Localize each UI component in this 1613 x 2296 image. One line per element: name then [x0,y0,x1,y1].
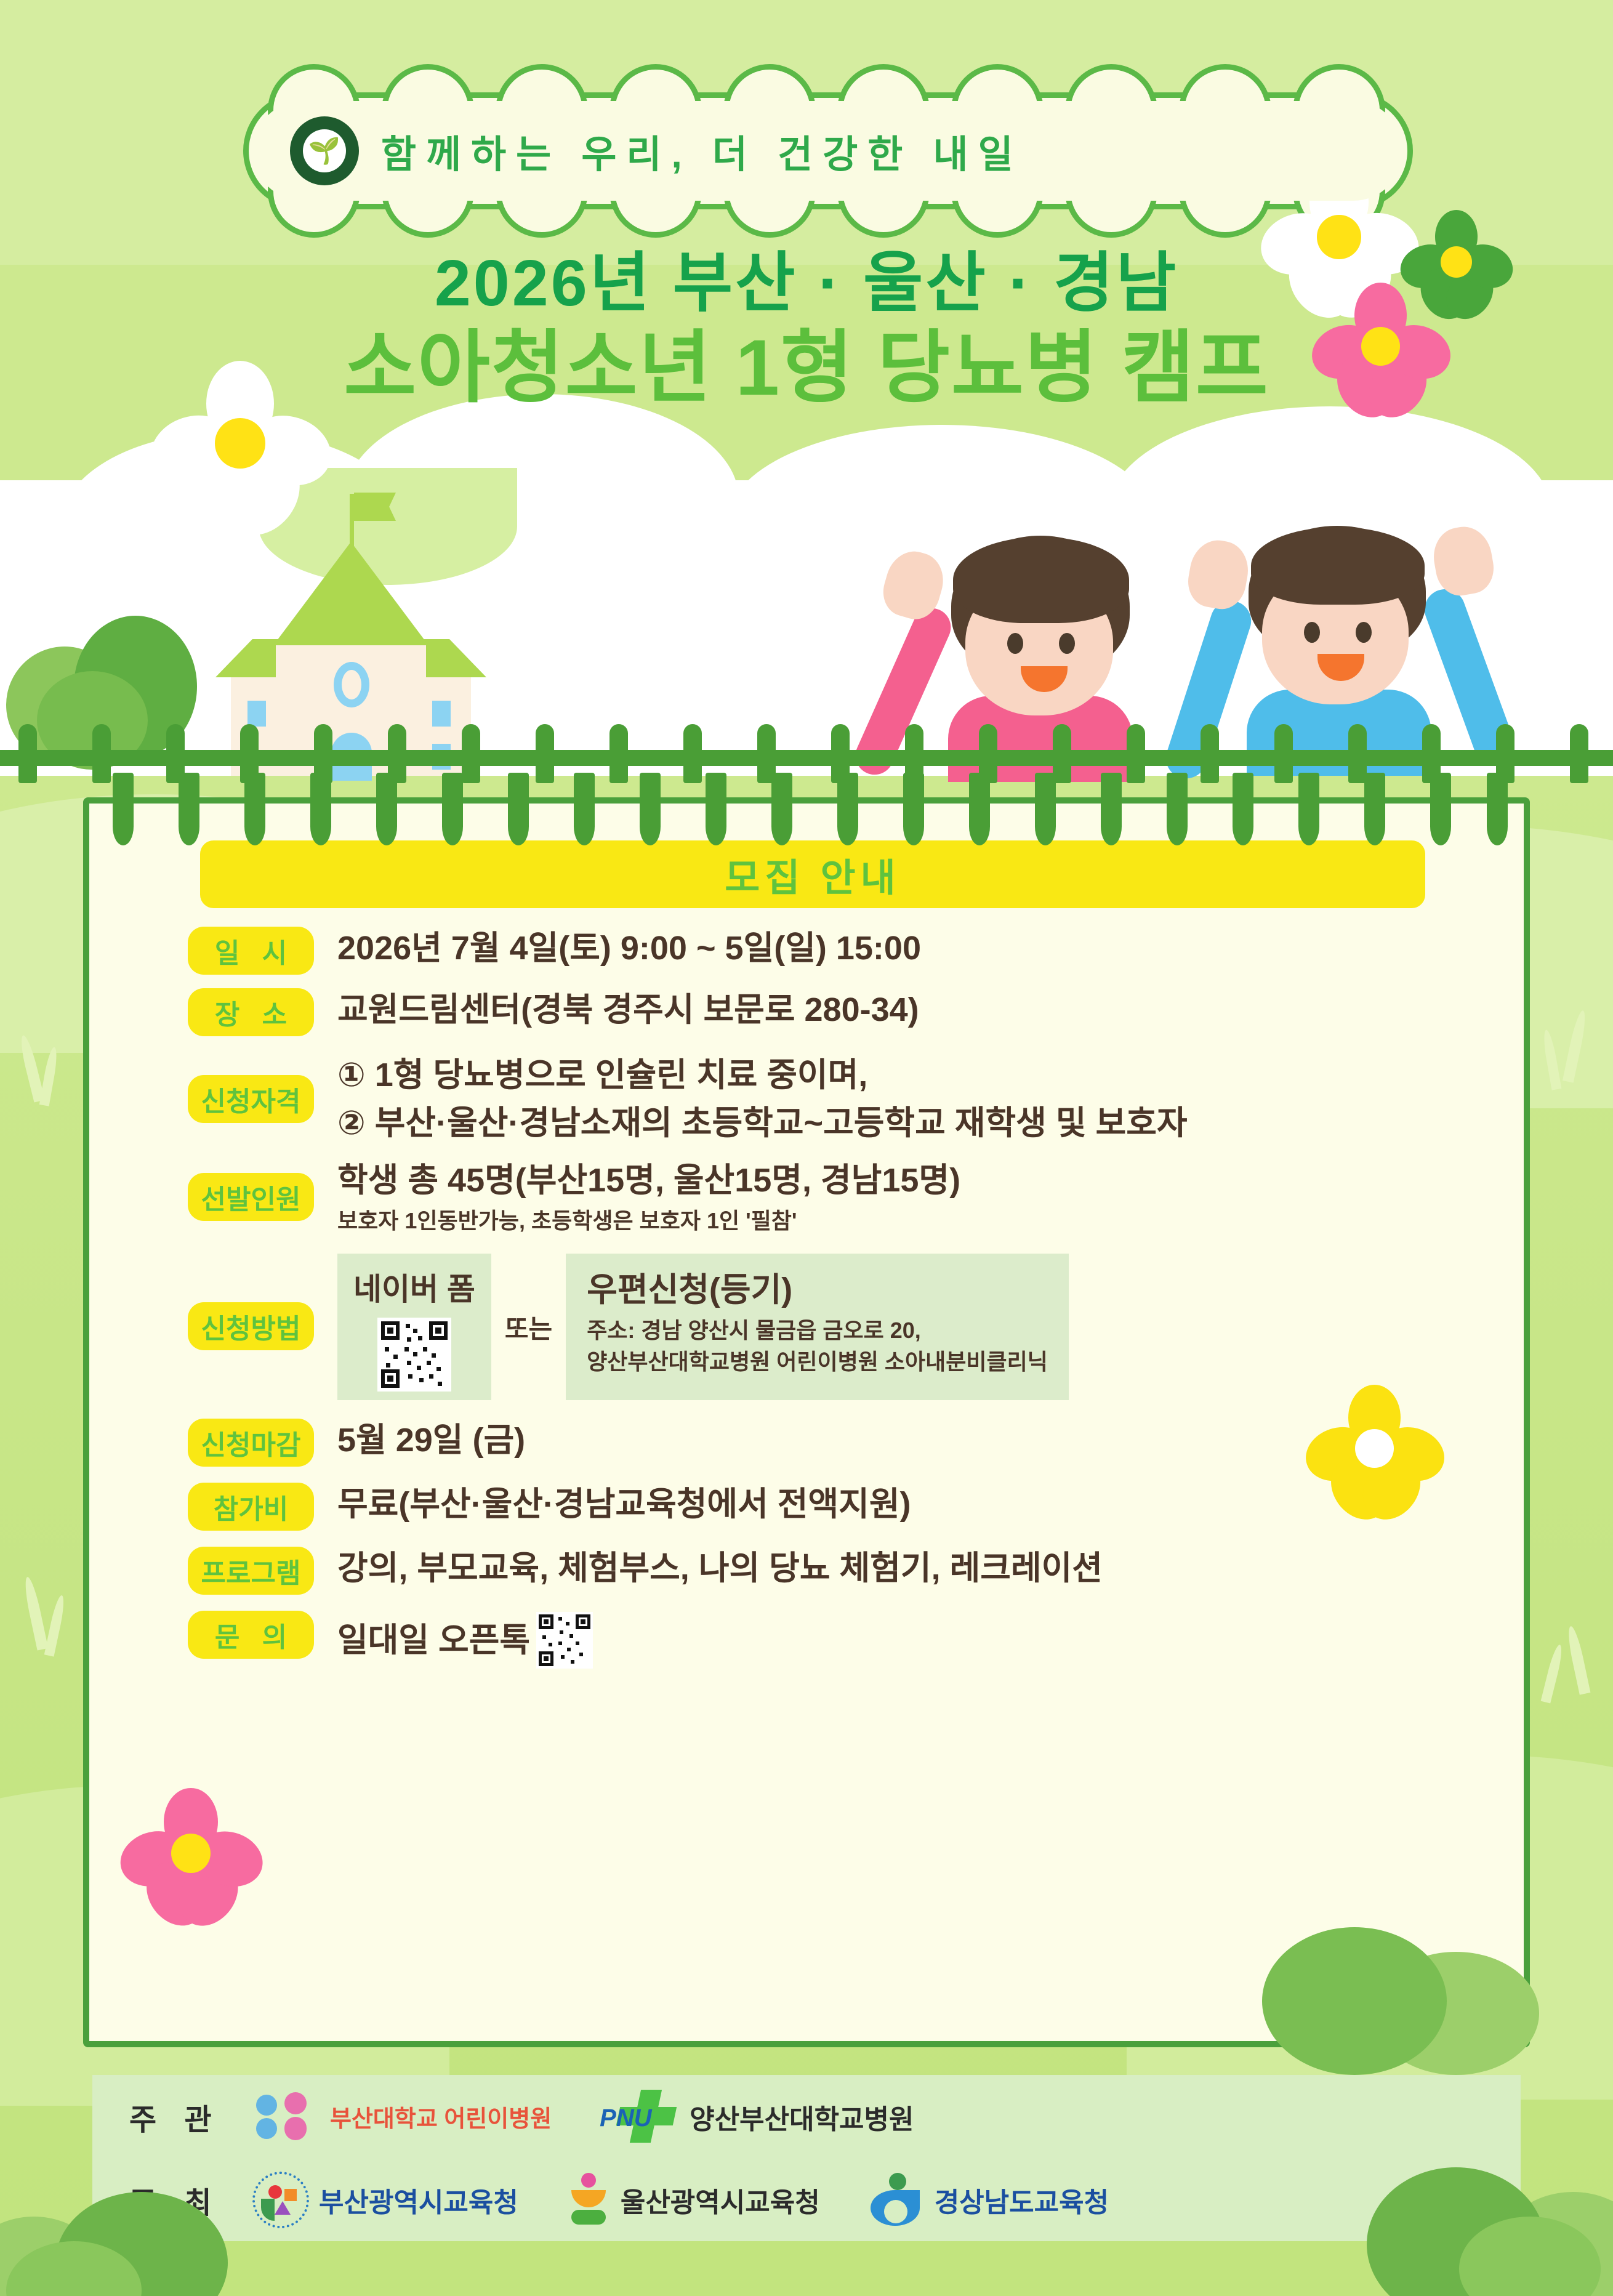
label-eligibility: 신청자격 [188,1075,314,1123]
footer-credits: 주 관 부산대학교 어린이병원 PNU 양산부산대학교병원 [92,2075,1521,2241]
round-window [334,662,369,707]
pnu-wordmark: PNU [600,2105,651,2132]
sponsor-name-busan: 부산광역시교육청 [319,2180,518,2220]
label-deadline: 신청마감 [188,1419,314,1467]
sponsor-name-gyeongnam: 경상남도교육청 [935,2180,1109,2220]
footer-sponsors-row: 주 최 부산광역시교육청 울산광역시교육청 [92,2158,1521,2241]
row-capacity: 선발인원 학생 총 45명(부산15명, 울산15명, 경남15명) 보호자 1… [89,1159,1524,1235]
page-title: 2026년 부산 · 울산 · 경남 소아청소년 1형 당뇨병 캠프 [0,246,1613,412]
pnu-yangsan-hospital-logo: PNU [600,2087,680,2146]
camp-logo-icon: 🌱 [290,116,359,185]
poster-root: 🌱 함께하는 우리, 더 건강한 내일 2026년 부산 · 울산 · 경남 소… [0,0,1613,2296]
busan-education-office-logo [252,2172,309,2228]
value-location: 교원드림센터(경북 경주시 보문로 280-34) [337,989,1524,1031]
info-card: 모집 안내 일 시 2026년 7월 4일(토) 9:00 ~ 5일(일) 15… [83,797,1530,2047]
tagline-banner: 🌱 함께하는 우리, 더 건강한 내일 [243,92,1413,209]
boy-right-hand [1429,523,1498,600]
boy-hair-front [1251,527,1425,605]
label-inquiry: 문 의 [188,1611,314,1659]
section-banner: 모집 안내 [200,840,1425,908]
label-location: 장 소 [188,988,314,1036]
apply-connector: 또는 [505,1308,552,1346]
apply-option-naver[interactable]: 네이버 폼 [337,1254,491,1400]
footer-organizers-row: 주 관 부산대학교 어린이병원 PNU 양산부산대학교병원 [92,2075,1521,2158]
row-fee: 참가비 무료(부산·울산·경남교육청에서 전액지원) [89,1483,1524,1531]
row-datetime: 일 시 2026년 7월 4일(토) 9:00 ~ 5일(일) 15:00 [89,927,1524,975]
value-eligibility-2: ② 부산·울산·경남소재의 초등학교~고등학교 재학생 및 보호자 [337,1103,1524,1145]
sponsor-gyeongnam: 경상남도교육청 [868,2172,1109,2228]
label-apply-method: 신청방법 [188,1302,314,1350]
label-fee: 참가비 [188,1483,314,1531]
apply-mail-title: 우편신청(등기) [587,1262,1048,1311]
org-name-pnu-yangsan: 양산부산대학교병원 [690,2097,914,2137]
info-rows: 일 시 2026년 7월 4일(토) 9:00 ~ 5일(일) 15:00 장 … [89,927,1524,1671]
row-inquiry: 문 의 일대일 오픈톡 [89,1611,1524,1669]
naver-form-qr-code[interactable] [377,1318,451,1392]
row-location: 장 소 교원드림센터(경북 경주시 보문로 280-34) [89,988,1524,1036]
sponsor-busan: 부산광역시교육청 [252,2172,518,2228]
spiral-binding [83,773,1530,847]
sponsor-name-ulsan: 울산광역시교육청 [621,2180,820,2220]
ulsan-education-office-logo [566,2172,611,2228]
label-capacity: 선발인원 [188,1173,314,1221]
row-apply-method: 신청방법 네이버 폼 [89,1252,1524,1400]
org-pnu-yangsan-hospital: PNU 양산부산대학교병원 [600,2087,914,2146]
note-capacity: 보호자 1인동반가능, 초등학생은 보호자 1인 '필참' [337,1207,1524,1236]
title-line-2: 소아청소년 1형 당뇨병 캠프 [0,325,1613,412]
gyeongnam-education-office-logo [868,2172,925,2228]
label-datetime: 일 시 [188,927,314,975]
apply-option-mail: 우편신청(등기) 주소: 경남 양산시 물금읍 금오로 20, 양산부산대학교병… [566,1254,1069,1400]
row-program: 프로그램 강의, 부모교육, 체험부스, 나의 당뇨 체험기, 레크레이션 [89,1547,1524,1595]
apply-mail-line-1: 주소: 경남 양산시 물금읍 금오로 20, [587,1316,1048,1346]
label-program: 프로그램 [188,1547,314,1595]
tagline-text: 함께하는 우리, 더 건강한 내일 [381,123,1023,179]
value-capacity: 학생 총 45명(부산15명, 울산15명, 경남15명) [337,1160,1524,1202]
value-inquiry: 일대일 오픈톡 [337,1620,530,1662]
org-name-pnu-childrens: 부산대학교 어린이병원 [330,2100,552,2133]
org-pnu-childrens-hospital: 부산대학교 어린이병원 [252,2089,552,2145]
footer-organizers-key: 주 관 [129,2095,234,2138]
title-line-1: 2026년 부산 · 울산 · 경남 [0,246,1613,321]
apply-naver-label: 네이버 폼 [353,1265,475,1309]
girl-hair-front [953,537,1129,623]
value-datetime: 2026년 7월 4일(토) 9:00 ~ 5일(일) 15:00 [337,928,1524,970]
value-eligibility-1: ① 1형 당뇨병으로 인슐린 치료 중이며, [337,1055,1524,1097]
section-banner-label: 모집 안내 [725,847,900,902]
flower-pink-inquiry [132,1795,249,1912]
apply-mail-line-2: 양산부산대학교병원 어린이병원 소아내분비클리닉 [587,1347,1048,1377]
sponsor-ulsan: 울산광역시교육청 [566,2172,820,2228]
pnu-childrens-hospital-logo [252,2089,320,2145]
row-eligibility: 신청자격 ① 1형 당뇨병으로 인슐린 치료 중이며, ② 부산·울산·경남소재… [89,1053,1524,1144]
sprout-icon: 🌱 [308,138,340,164]
value-program: 강의, 부모교육, 체험부스, 나의 당뇨 체험기, 레크레이션 [337,1548,1524,1590]
boy-left-hand [1184,536,1253,613]
open-talk-qr-code[interactable] [536,1612,593,1669]
flower-yellow-card [1317,1392,1431,1505]
banner-content: 🌱 함께하는 우리, 더 건강한 내일 [253,101,1403,201]
